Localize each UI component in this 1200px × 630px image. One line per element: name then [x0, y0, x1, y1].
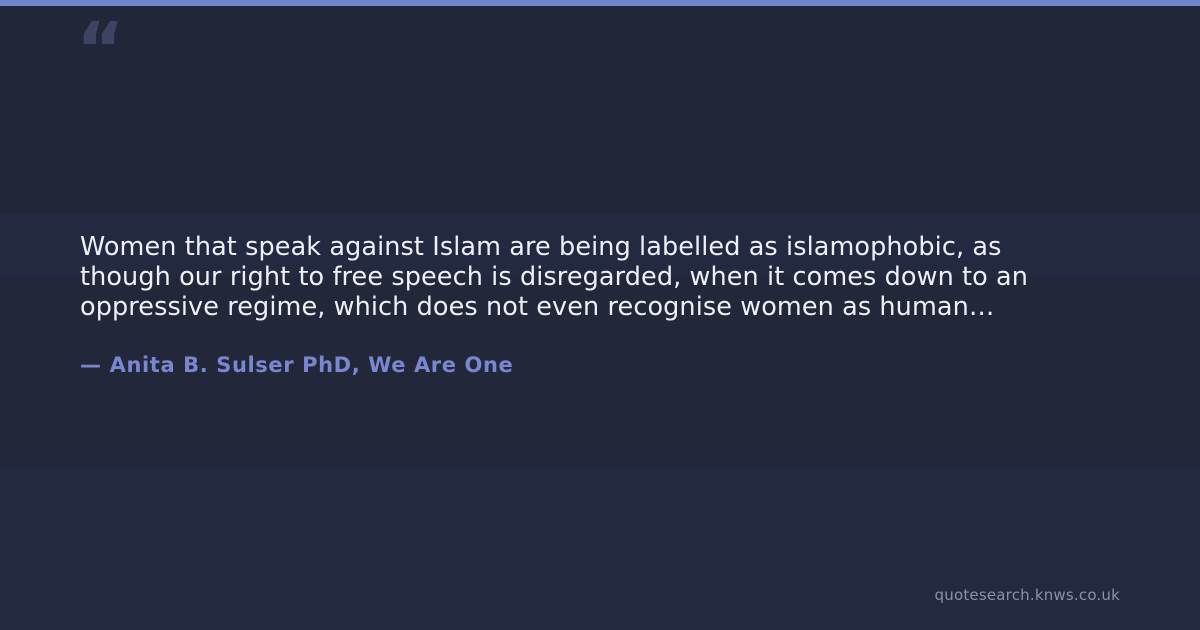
attribution-label: Anita B. Sulser PhD, We Are One	[110, 353, 514, 377]
attribution-author: Anita B. Sulser PhD	[110, 353, 352, 377]
top-accent-bar	[0, 0, 1200, 6]
quote-attribution: —Anita B. Sulser PhD, We Are One	[80, 322, 1120, 378]
quote-card: “ Women that speak against Islam are bei…	[0, 0, 1200, 630]
attribution-source: We Are One	[368, 353, 513, 377]
open-quote-icon: “	[76, 13, 146, 87]
site-url-watermark: quotesearch.knws.co.uk	[935, 586, 1120, 604]
quote-text: Women that speak against Islam are being…	[80, 232, 1080, 322]
quote-content: Women that speak against Islam are being…	[80, 232, 1120, 378]
attribution-separator: ,	[352, 353, 369, 377]
attribution-dash: —	[80, 352, 110, 378]
